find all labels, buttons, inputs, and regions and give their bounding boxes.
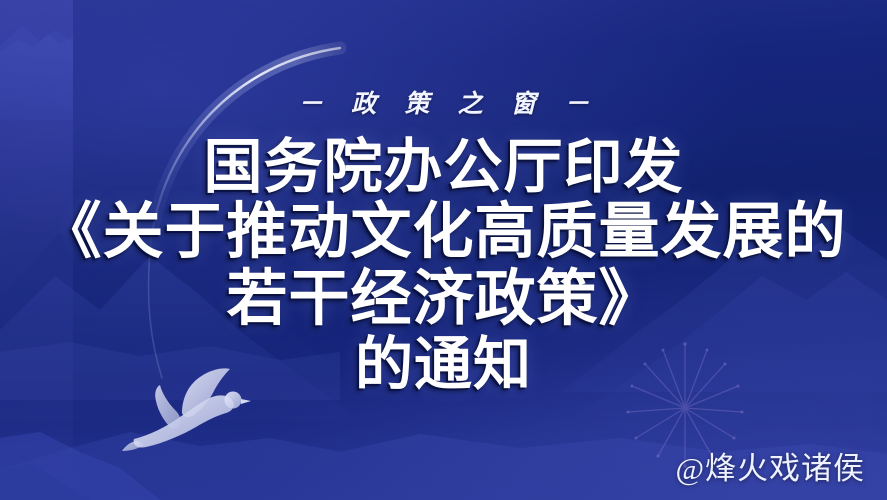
title-line-3: 若干经济政策》 — [0, 269, 887, 332]
title-line-2: 《关于推动文化高质量发展的 — [0, 202, 887, 265]
title-line-4: 的通知 — [0, 335, 887, 395]
watermark-handle: @烽火戏诸侯 — [675, 443, 865, 488]
page-title: 国务院办公厅印发 《关于推动文化高质量发展的 若干经济政策》 的通知 — [0, 137, 887, 395]
eyebrow-label: － 政 策 之 窗 － — [0, 92, 887, 117]
policy-announcement-poster: － 政 策 之 窗 － 国务院办公厅印发 《关于推动文化高质量发展的 若干经济政… — [0, 0, 887, 500]
title-line-1: 国务院办公厅印发 — [0, 137, 887, 198]
poster-text-content: － 政 策 之 窗 － 国务院办公厅印发 《关于推动文化高质量发展的 若干经济政… — [0, 0, 887, 395]
